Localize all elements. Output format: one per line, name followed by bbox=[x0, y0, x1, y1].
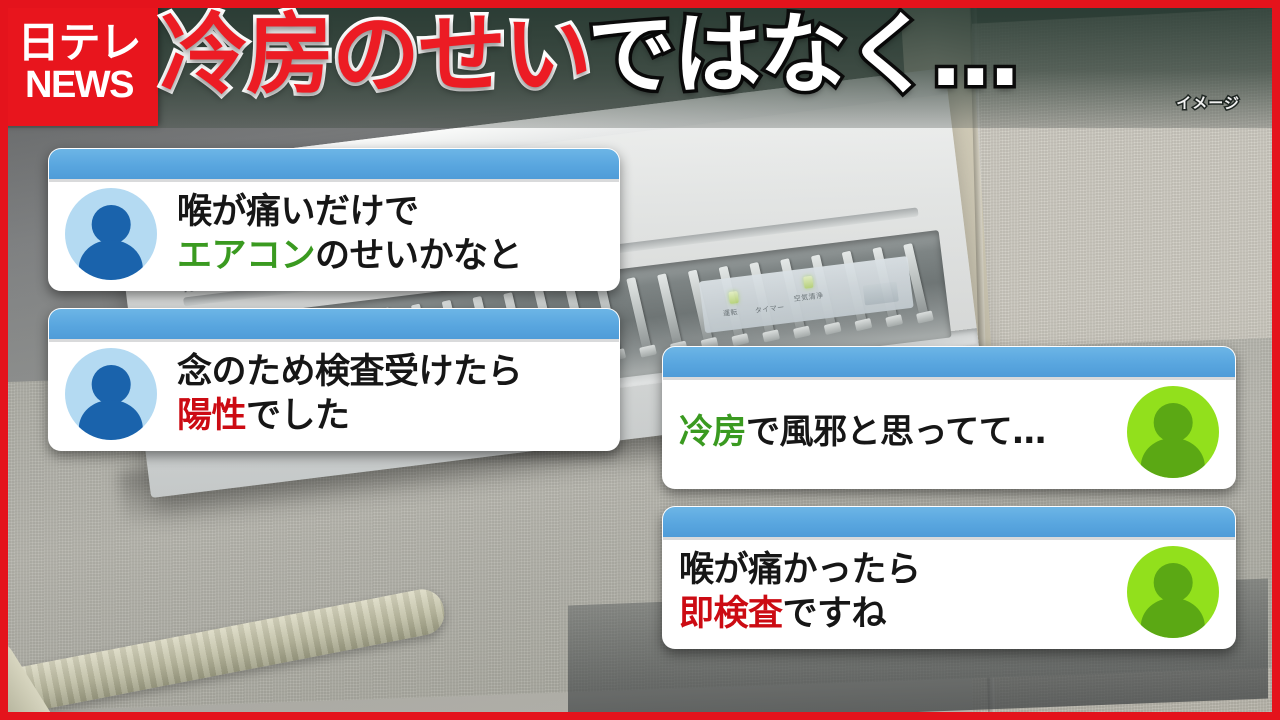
person-icon bbox=[65, 348, 157, 440]
person-icon-body bbox=[1141, 598, 1205, 638]
headline-white-part: ではなく… bbox=[587, 3, 1017, 106]
broadcaster-logo: 日テレ NEWS bbox=[0, 0, 158, 126]
person-icon-body bbox=[1141, 438, 1205, 478]
bubble-text-line: 喉が痛かったら bbox=[679, 548, 1113, 592]
speech-bubble: 念のため検査受けたら陽性でした bbox=[48, 308, 620, 451]
led-indicator-2 bbox=[803, 276, 813, 289]
bubble-text-segment: 喉が痛いだけで bbox=[177, 192, 419, 232]
led-label-1: 運転 bbox=[722, 307, 738, 319]
bubble-body: 冷房で風邪と思ってて… bbox=[663, 380, 1235, 488]
person-icon-head bbox=[92, 205, 131, 244]
bubble-text: 喉が痛かったら即検査ですね bbox=[679, 548, 1127, 636]
bubble-text-segment: 喉が痛かったら bbox=[679, 550, 921, 590]
bubble-text-line: 冷房で風邪と思ってて… bbox=[679, 411, 1113, 454]
bubble-title-bar bbox=[49, 149, 619, 182]
bubble-title-bar bbox=[49, 309, 619, 342]
ac-louver bbox=[626, 277, 651, 351]
bubble-text-segment: 念のため検査受けたら bbox=[177, 352, 522, 392]
speech-bubble: 喉が痛かったら即検査ですね bbox=[662, 506, 1236, 649]
bubble-text-segment: 陽性 bbox=[177, 396, 246, 436]
bubble-text: 念のため検査受けたら陽性でした bbox=[157, 350, 603, 438]
person-icon bbox=[1127, 546, 1219, 638]
person-icon-head bbox=[1154, 403, 1193, 442]
speech-bubble: 冷房で風邪と思ってて… bbox=[662, 346, 1236, 489]
bubble-text-line: 念のため検査受けたら bbox=[177, 350, 603, 394]
bubble-title-bar bbox=[663, 507, 1235, 540]
bubble-text-segment: で風邪と思ってて… bbox=[746, 412, 1046, 452]
bubble-text-segment: でした bbox=[246, 396, 350, 436]
ac-panel-button bbox=[863, 282, 899, 306]
bubble-text-line: 即検査ですね bbox=[679, 592, 1113, 636]
person-icon-head bbox=[1154, 563, 1193, 602]
bubble-body: 喉が痛かったら即検査ですね bbox=[663, 540, 1235, 648]
led-label-3: 空気清浄 bbox=[793, 291, 824, 305]
person-icon bbox=[1127, 386, 1219, 478]
bubble-text-segment: エアコン bbox=[177, 236, 315, 276]
headline: 冷房のせいではなく… bbox=[160, 6, 1017, 105]
bubble-text-line: 喉が痛いだけで bbox=[177, 190, 603, 234]
bubble-body: 喉が痛いだけでエアコンのせいかなと bbox=[49, 182, 619, 290]
person-icon bbox=[65, 188, 157, 280]
ac-louver bbox=[657, 273, 682, 347]
image-disclaimer-label: イメージ bbox=[1176, 92, 1240, 113]
bubble-text-segment: のせいかなと bbox=[315, 236, 522, 276]
speech-bubble: 喉が痛いだけでエアコンのせいかなと bbox=[48, 148, 620, 291]
logo-text-jp: 日テレ bbox=[17, 22, 140, 63]
bubble-title-bar bbox=[663, 347, 1235, 380]
person-icon-body bbox=[79, 400, 143, 440]
led-indicator-1 bbox=[728, 291, 738, 304]
news-graphic-stage: National inverter 運転 タイマー 空気清浄 日テレ NEWS … bbox=[0, 0, 1280, 720]
person-icon-head bbox=[92, 365, 131, 404]
bubble-text: 喉が痛いだけでエアコンのせいかなと bbox=[157, 190, 603, 278]
bubble-text-line: 陽性でした bbox=[177, 394, 603, 438]
bubble-body: 念のため検査受けたら陽性でした bbox=[49, 342, 619, 450]
logo-text-news: NEWS bbox=[25, 66, 133, 104]
bubble-text-line: エアコンのせいかなと bbox=[177, 234, 603, 278]
led-label-2: タイマー bbox=[754, 302, 785, 316]
bubble-text-segment: ですね bbox=[783, 594, 887, 634]
person-icon-body bbox=[79, 240, 143, 280]
bubble-text-segment: 即検査 bbox=[679, 594, 783, 634]
bubble-text-segment: 冷房 bbox=[679, 412, 746, 452]
bubble-text: 冷房で風邪と思ってて… bbox=[679, 411, 1127, 454]
headline-red-part: 冷房のせい bbox=[160, 3, 587, 106]
